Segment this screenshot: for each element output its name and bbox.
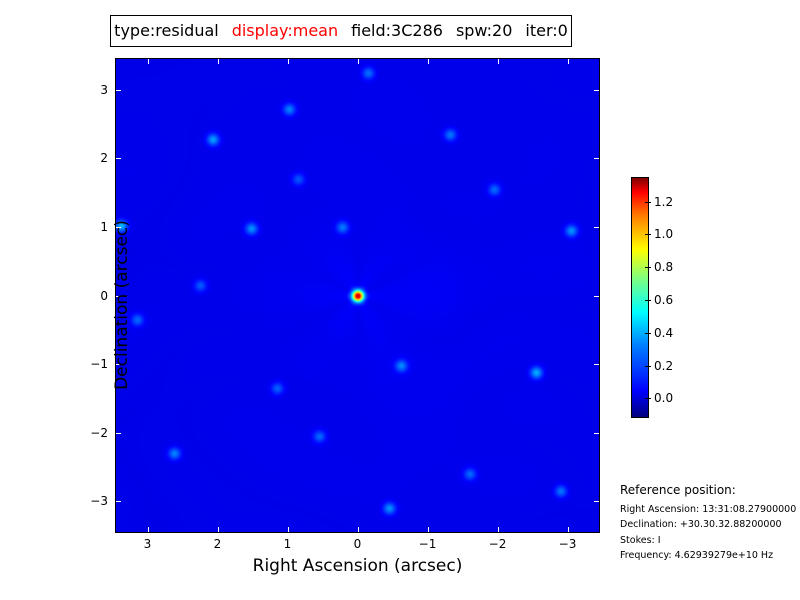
x-tick-label: 3 xyxy=(144,537,152,551)
y-tick-label: 1 xyxy=(78,220,108,234)
colorbar-tick-mark xyxy=(645,333,651,334)
colorbar-tick-label: 1.2 xyxy=(654,195,673,209)
x-tick-mark xyxy=(428,527,429,532)
x-tick-label: 1 xyxy=(284,537,292,551)
y-tick-mark xyxy=(594,227,599,228)
colorbar-tick-mark xyxy=(645,202,651,203)
colorbar-tick-mark xyxy=(645,366,651,367)
reference-position-header: Reference position: xyxy=(620,483,798,497)
y-tick-mark xyxy=(594,296,599,297)
x-tick-label: −1 xyxy=(419,537,437,551)
title-item-iter: iter:0 xyxy=(525,23,567,39)
sky-image-axes xyxy=(115,58,600,533)
y-tick-mark xyxy=(594,364,599,365)
x-tick-mark xyxy=(358,59,359,64)
colorbar-tick-mark xyxy=(645,300,651,301)
colorbar-tick-label: 0.6 xyxy=(654,293,673,307)
x-axis-label: Right Ascension (arcsec) xyxy=(115,556,600,576)
colorbar-tick-label: 0.8 xyxy=(654,260,673,274)
x-tick-mark xyxy=(288,527,289,532)
y-tick-label: −1 xyxy=(78,357,108,371)
x-tick-label: 2 xyxy=(214,537,222,551)
x-tick-mark xyxy=(148,527,149,532)
x-tick-mark xyxy=(568,527,569,532)
plot-page: type:residual display:mean field:3C286 s… xyxy=(0,0,800,600)
y-tick-label: 3 xyxy=(78,83,108,97)
y-tick-mark xyxy=(594,90,599,91)
x-tick-mark xyxy=(428,59,429,64)
colorbar-tick-label: 0.0 xyxy=(654,391,673,405)
y-tick-label: −3 xyxy=(78,494,108,508)
x-tick-label: −3 xyxy=(559,537,577,551)
y-tick-label: 0 xyxy=(78,289,108,303)
x-tick-mark xyxy=(358,527,359,532)
y-tick-mark xyxy=(594,433,599,434)
colorbar-gradient xyxy=(631,177,649,418)
colorbar-tick-mark xyxy=(645,234,651,235)
y-axis-label: Declination (arcsec) xyxy=(112,65,132,545)
x-tick-mark xyxy=(498,59,499,64)
colorbar-tick-label: 0.2 xyxy=(654,359,673,373)
title-item-field: field:3C286 xyxy=(351,23,443,39)
x-tick-label: 0 xyxy=(354,537,362,551)
x-tick-label: −2 xyxy=(489,537,507,551)
reference-right-ascension: Right Ascension: 13:31:08.27900000 xyxy=(620,502,798,517)
reference-position-block: Reference position: Right Ascension: 13:… xyxy=(620,483,798,564)
colorbar-tick-label: 1.0 xyxy=(654,227,673,241)
x-tick-mark xyxy=(218,59,219,64)
title-item-spw: spw:20 xyxy=(456,23,512,39)
colorbar-tick-label: 0.4 xyxy=(654,326,673,340)
title-item-display: display:mean xyxy=(232,23,338,39)
colorbar xyxy=(631,177,649,418)
colorbar-tick-mark xyxy=(645,398,651,399)
x-tick-mark xyxy=(218,527,219,532)
colorbar-tick-mark xyxy=(645,267,651,268)
y-tick-mark xyxy=(594,158,599,159)
x-tick-mark xyxy=(148,59,149,64)
y-tick-mark xyxy=(594,501,599,502)
x-tick-mark xyxy=(568,59,569,64)
plot-title-bar: type:residual display:mean field:3C286 s… xyxy=(110,15,572,47)
reference-frequency: Frequency: 4.62939279e+10 Hz xyxy=(620,548,798,563)
residual-sky-image xyxy=(116,59,599,532)
reference-stokes: Stokes: I xyxy=(620,533,798,548)
x-tick-mark xyxy=(288,59,289,64)
y-tick-label: −2 xyxy=(78,426,108,440)
title-item-type: type:residual xyxy=(114,23,219,39)
y-tick-label: 2 xyxy=(78,151,108,165)
reference-declination: Declination: +30.30.32.88200000 xyxy=(620,517,798,532)
x-tick-mark xyxy=(498,527,499,532)
